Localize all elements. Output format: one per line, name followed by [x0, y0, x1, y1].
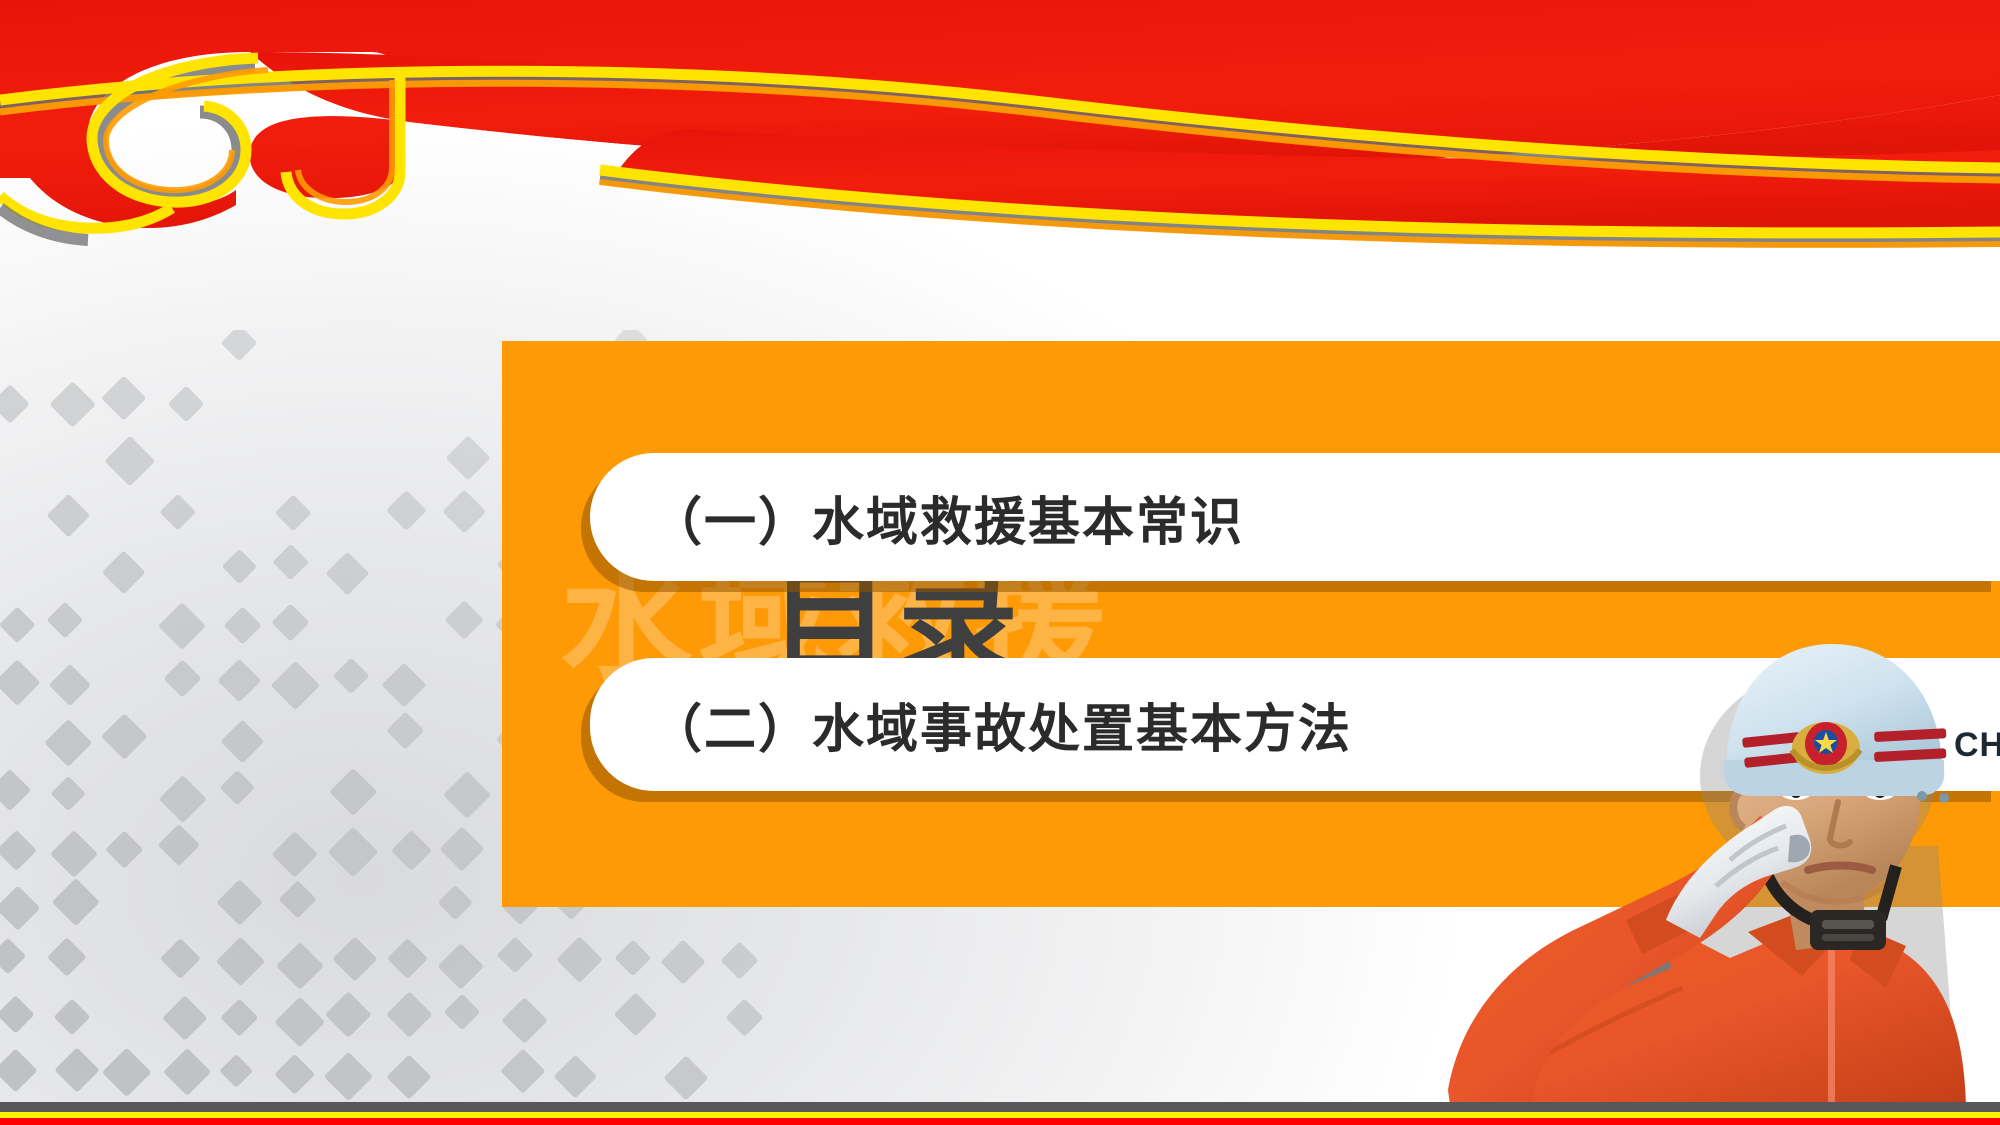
bottom-red-bar	[0, 1118, 2000, 1125]
contents-orange-panel	[502, 341, 2000, 907]
slide-canvas: 水域救援 目录 （一）水域救援基本常识 （二）水域事故处置基本方法	[0, 0, 2000, 1125]
contents-item-2-label: （二）水域事故处置基本方法	[650, 687, 1352, 762]
contents-item-2[interactable]: （二）水域事故处置基本方法	[590, 658, 2000, 791]
contents-item-1[interactable]: （一）水域救援基本常识	[590, 453, 2000, 581]
contents-item-1-label: （一）水域救援基本常识	[650, 480, 1244, 555]
bottom-gray-bar	[0, 1102, 2000, 1112]
